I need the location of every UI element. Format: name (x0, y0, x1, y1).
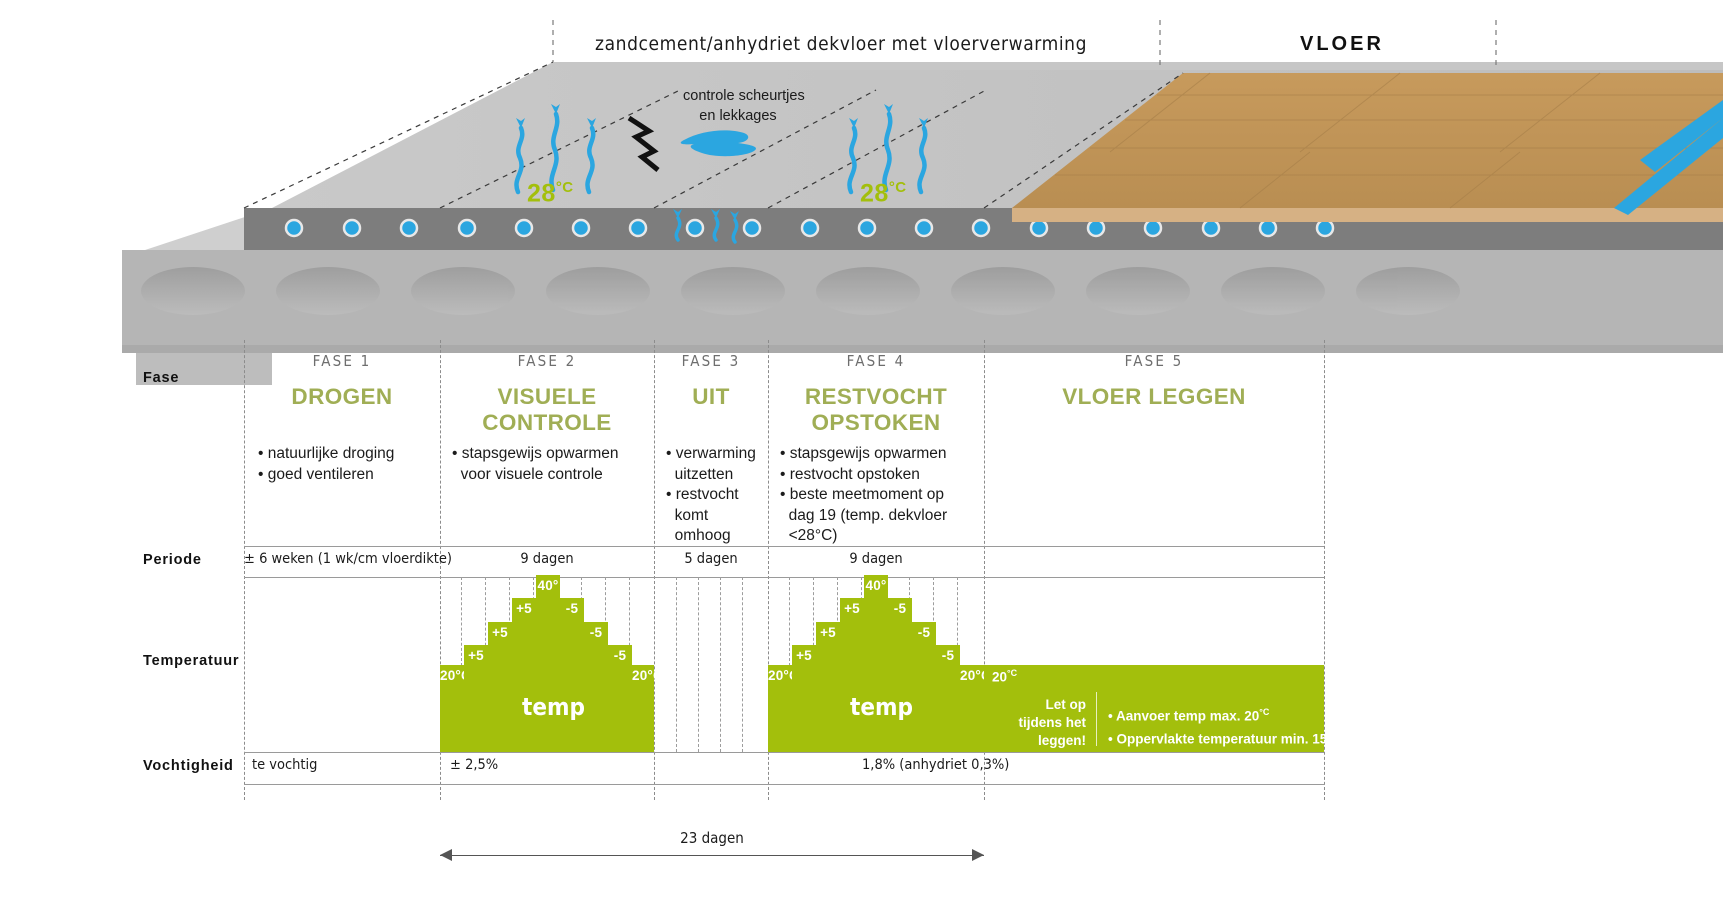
row-label-periode: Periode (143, 552, 202, 568)
temp-step-f4-6-label: -5 (888, 601, 912, 616)
temp-step-f2-4: +5 (512, 598, 536, 752)
temp-step-f4-9: 20°C (960, 665, 984, 752)
fase-1-bullet-2: • goed ventileren (258, 465, 438, 486)
day-line-f3-3 (720, 577, 721, 752)
fase-1-title: DROGEN (244, 384, 440, 410)
temp-step-f2-3: +5 (488, 622, 512, 752)
temp-step-f4-5-label: 40° (864, 578, 888, 593)
fase-4-bullet-3: • beste meetmoment op (780, 485, 985, 506)
fase-5-note: Let op tijdens het leggen! (1000, 696, 1086, 750)
fase-5-title: VLOER LEGGEN (984, 384, 1324, 410)
fase-3-bullet-2c: omhoog (666, 526, 770, 547)
temp-step-f4-4: +5 (840, 598, 864, 752)
total-duration-arrow-right (972, 849, 984, 861)
crack-note-line-1: controle scheurtjes (683, 86, 793, 106)
temp-28-label-1: 28°C (527, 179, 574, 208)
temp-step-f2-3-label: +5 (488, 625, 512, 640)
temp-step-f2-5: 40° (536, 575, 560, 752)
fase-2-number: FASE 2 (440, 352, 654, 370)
total-duration-label: 23 dagen (440, 829, 984, 847)
rule-below-periode (244, 577, 1324, 578)
temp-28-unit-1: °C (556, 179, 574, 196)
fase-2-bullet-1: • stapsgewijs opwarmen (452, 444, 657, 465)
temp-step-f2-6: -5 (560, 598, 584, 752)
fase-5-requirements: • Aanvoer temp max. 20°C • Oppervlakte t… (1108, 703, 1337, 748)
day-line-f3-4 (742, 577, 743, 752)
temp-28-label-2: 28°C (860, 179, 907, 208)
temp-step-f4-9-label: 20°C (960, 668, 984, 683)
temp-word-fase2: temp (522, 693, 585, 721)
temp-step-f2-6-label: -5 (560, 601, 584, 616)
temp-step-f4-2: +5 (792, 645, 816, 752)
temp-step-f2-9-label: 20°C (632, 668, 654, 683)
temp-step-f2-8-label: -5 (608, 648, 632, 663)
illustration-title: zandcement/anhydriet dekvloer met vloerv… (595, 33, 1087, 55)
rule-below-vochtigheid (244, 784, 1324, 785)
fase-4-vochtigheid: 1,8% (anhydriet 0,3%) (862, 757, 1009, 773)
fase-2-vochtigheid: ± 2,5% (450, 757, 498, 773)
temp-step-f2-8: -5 (608, 645, 632, 752)
fase-3-bullet-2: • restvocht (666, 485, 770, 506)
vloer-title: VLOER (1300, 33, 1384, 56)
fase-5-note-divider (1096, 692, 1097, 746)
fase-3-bullet-1b: uitzetten (666, 465, 770, 486)
fase-2-title: VISUELE CONTROLE (440, 384, 654, 436)
fase-1-number: FASE 1 (244, 352, 440, 370)
fase-2-bullets: • stapsgewijs opwarmen voor visuele cont… (452, 444, 657, 485)
temp-step-f4-8: -5 (936, 645, 960, 752)
temp-step-f4-4-label: +5 (840, 601, 864, 616)
fase-4-bullet-3c: <28°C) (780, 526, 985, 547)
fase-4-bullets: • stapsgewijs opwarmen • restvocht opsto… (780, 444, 985, 547)
row-label-vochtigheid: Vochtigheid (143, 758, 234, 774)
fase-1-periode: ± 6 weken (1 wk/cm vloerdikte) (244, 551, 440, 567)
floor-cross-section-illustration: zandcement/anhydriet dekvloer met vloerv… (0, 0, 1723, 395)
fase-1-bullets: • natuurlijke droging • goed ventileren (258, 444, 438, 485)
temp-28-value-2: 28 (860, 179, 889, 207)
day-line-f3-2 (698, 577, 699, 752)
temp-step-f2-2: +5 (464, 645, 488, 752)
temp-28-unit-2: °C (889, 179, 907, 196)
fase-5-requirement-1-unit: °C (1259, 707, 1269, 717)
temp-step-f4-7-label: -5 (912, 625, 936, 640)
day-line-f3-1 (676, 577, 677, 752)
temp-step-f2-7-label: -5 (584, 625, 608, 640)
fase-4-periode: 9 dagen (768, 551, 984, 567)
fase-5-note-line-3: leggen! (1000, 732, 1086, 750)
fase-5-requirement-2-text: • Oppervlakte temperatuur min. 15 (1108, 731, 1327, 746)
fase-2-periode: 9 dagen (440, 551, 654, 567)
fase-5-temp-unit: °C (1007, 668, 1017, 678)
total-duration-line (440, 855, 984, 856)
fase-2-bullet-2: voor visuele controle (452, 465, 657, 486)
row-label-fase: Fase (143, 370, 179, 386)
fase-3-bullet-1: • verwarming (666, 444, 770, 465)
fase-5-temp-number: 20 (992, 670, 1007, 685)
temp-step-f4-2-label: +5 (792, 648, 816, 663)
temp-step-f4-3: +5 (816, 622, 840, 752)
fase-3-number: FASE 3 (654, 352, 768, 370)
fase-4-number: FASE 4 (768, 352, 984, 370)
fase-1-vochtigheid: te vochtig (252, 757, 317, 773)
fase-3-bullets: • verwarming uitzetten • restvocht komt … (666, 444, 770, 547)
temp-28-value-1: 28 (527, 179, 556, 207)
fase-3-periode: 5 dagen (654, 551, 768, 567)
wood-floor-edge (1012, 208, 1723, 222)
crack-note-line-2: en lekkages (683, 106, 793, 126)
fase-5-note-line-1: Let op (1000, 696, 1086, 714)
temp-word-fase4: temp (850, 693, 913, 721)
fase-5-requirement-1-text: • Aanvoer temp max. 20 (1108, 709, 1259, 724)
screed-top-edge (553, 62, 1723, 70)
temp-step-f2-1: 20°C (440, 665, 464, 752)
temp-step-f2-2-label: +5 (464, 648, 488, 663)
total-duration-arrow-left (440, 849, 452, 861)
temp-step-f4-8-label: -5 (936, 648, 960, 663)
fase-4-title: RESTVOCHT OPSTOKEN (768, 384, 984, 436)
temp-step-f4-6: -5 (888, 598, 912, 752)
temp-step-f4-3-label: +5 (816, 625, 840, 640)
fase-4-bullet-3b: dag 19 (temp. dekvloer (780, 506, 985, 527)
fase-3-title: UIT (654, 384, 768, 410)
temp-step-f4-1: 20°C (768, 665, 792, 752)
temp-step-f4-1-label: 20°C (768, 668, 792, 683)
fase-5-requirement-1: • Aanvoer temp max. 20°C (1108, 703, 1337, 726)
fase-3-bullet-2b: komt (666, 506, 770, 527)
fase-5-number: FASE 5 (984, 352, 1324, 370)
phase-table: Fase Periode Temperatuur Vochtigheid FAS… (0, 340, 1723, 913)
temp-step-f4-7: -5 (912, 622, 936, 752)
fase-4-bullet-2: • restvocht opstoken (780, 465, 985, 486)
fase-4-bullet-1: • stapsgewijs opwarmen (780, 444, 985, 465)
fase-1-bullet-1: • natuurlijke droging (258, 444, 438, 465)
temp-step-f2-7: -5 (584, 622, 608, 752)
fase-5-note-line-2: tijdens het (1000, 714, 1086, 732)
fase-5-temp-value: 20°C (992, 668, 1017, 685)
temp-step-f2-1-label: 20°C (440, 668, 464, 683)
temp-step-f4-5: 40° (864, 575, 888, 752)
rule-above-vochtigheid (244, 752, 1324, 753)
temp-step-f2-5-label: 40° (536, 578, 560, 593)
temp-step-f2-9: 20°C (632, 665, 654, 752)
temp-step-f2-4-label: +5 (512, 601, 536, 616)
row-label-temperatuur: Temperatuur (143, 653, 239, 669)
fase-5-requirement-2-unit: °C (1327, 730, 1337, 740)
fase-5-requirement-2: • Oppervlakte temperatuur min. 15°C (1108, 726, 1337, 749)
